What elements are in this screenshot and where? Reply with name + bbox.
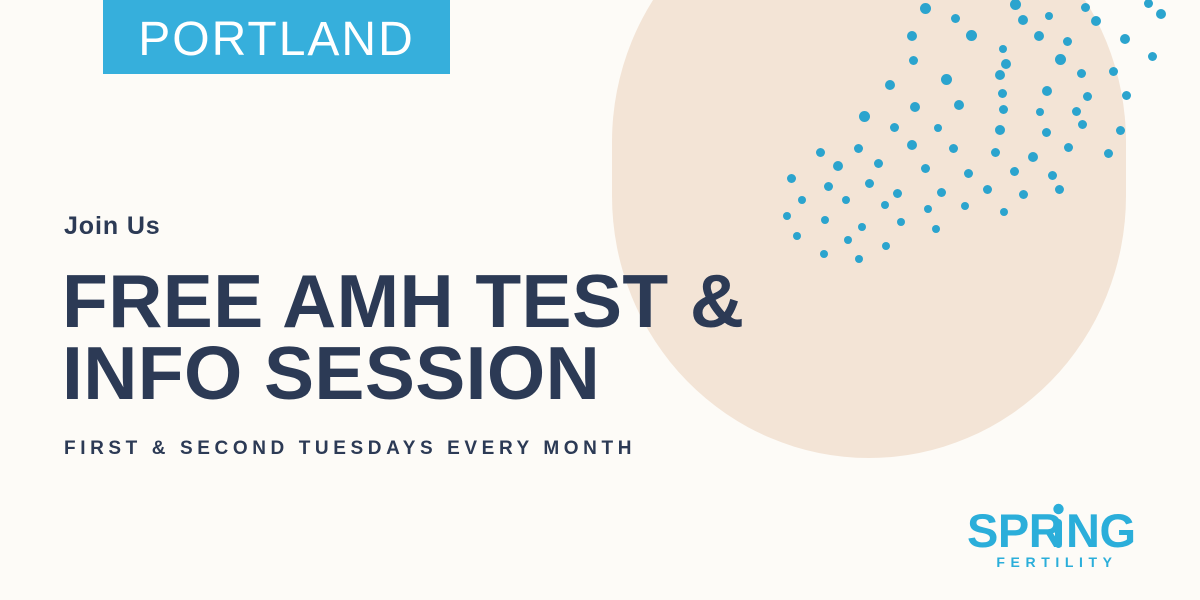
svg-text:NG: NG bbox=[1066, 504, 1136, 555]
schedule-text: FIRST & SECOND TUESDAYS EVERY MONTH bbox=[64, 439, 882, 458]
brand-logo: SPR NG FERTILITY bbox=[967, 503, 1143, 569]
banner-content: Join Us FREE AMH TEST & INFO SESSION FIR… bbox=[62, 214, 882, 458]
scatter-dot bbox=[1144, 0, 1153, 8]
eyebrow-text: Join Us bbox=[64, 214, 882, 239]
event-banner: PORTLAND Join Us FREE AMH TEST & INFO SE… bbox=[0, 0, 1200, 600]
spring-wordmark-icon: SPR NG bbox=[967, 503, 1143, 555]
headline-line-1: FREE AMH TEST & bbox=[62, 265, 882, 337]
page-title: FREE AMH TEST & INFO SESSION bbox=[62, 265, 882, 409]
brand-tagline: FERTILITY bbox=[967, 555, 1143, 569]
city-badge: PORTLAND bbox=[103, 0, 450, 74]
headline-line-2: INFO SESSION bbox=[62, 337, 882, 409]
scatter-dot bbox=[1122, 91, 1131, 100]
brand-wordmark: SPR NG bbox=[967, 503, 1143, 553]
city-badge-label: PORTLAND bbox=[138, 16, 415, 64]
scatter-dot bbox=[1156, 9, 1166, 19]
scatter-dot bbox=[1148, 52, 1157, 61]
svg-text:SPR: SPR bbox=[967, 504, 1062, 555]
scatter-dot bbox=[1120, 34, 1130, 44]
